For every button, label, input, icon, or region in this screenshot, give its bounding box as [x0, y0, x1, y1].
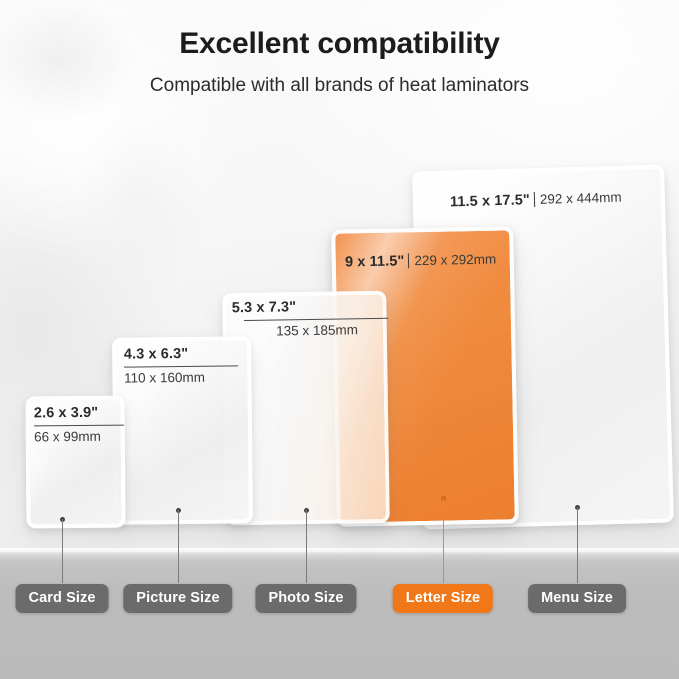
sheet-dimension-label-letter: 9 x 11.5"229 x 292mm: [345, 250, 497, 273]
leader-line-menu: [577, 507, 578, 583]
dimension-inches-letter: 9 x 11.5": [345, 253, 405, 270]
page-title: Excellent compatibility: [0, 27, 679, 61]
dimension-rule-photo: [244, 318, 388, 321]
dimension-mm-menu: 292 x 444mm: [540, 190, 622, 207]
dimension-rule-picture: [124, 366, 238, 368]
sheet-dimension-label-picture: 4.3 x 6.3" 110 x 160mm: [124, 344, 238, 387]
size-badge-photo[interactable]: Photo Size: [255, 584, 356, 613]
leader-line-card: [62, 519, 63, 583]
dimension-inches-card: 2.6 x 3.9": [34, 404, 124, 423]
size-badge-menu[interactable]: Menu Size: [528, 584, 626, 613]
dimension-inches-picture: 4.3 x 6.3": [124, 344, 238, 363]
dimension-mm-card: 66 x 99mm: [34, 429, 124, 447]
size-badge-card[interactable]: Card Size: [16, 584, 109, 613]
product-infographic: Excellent compatibility Compatible with …: [0, 0, 679, 679]
dimension-inches-menu: 11.5 x 17.5": [450, 192, 530, 210]
dimension-mm-picture: 110 x 160mm: [124, 370, 238, 388]
size-badge-letter[interactable]: Letter Size: [393, 584, 493, 613]
dimension-rule-card: [34, 425, 124, 427]
sheet-dimension-label-card: 2.6 x 3.9" 66 x 99mm: [34, 404, 124, 447]
dimension-mm-photo: 135 x 185mm: [276, 322, 388, 341]
dimension-mm-letter: 229 x 292mm: [414, 252, 496, 269]
leader-line-photo: [306, 510, 307, 583]
leader-line-picture: [178, 510, 179, 583]
size-badge-picture[interactable]: Picture Size: [123, 584, 232, 613]
dimension-divider-menu: [534, 192, 535, 207]
leader-line-letter: [443, 498, 444, 583]
dimension-divider-letter: [408, 253, 409, 268]
dimension-inches-photo: 5.3 x 7.3": [232, 297, 388, 318]
page-subtitle: Compatible with all brands of heat lamin…: [0, 75, 679, 97]
sheet-dimension-label-photo: 5.3 x 7.3" 135 x 185mm: [232, 297, 389, 341]
